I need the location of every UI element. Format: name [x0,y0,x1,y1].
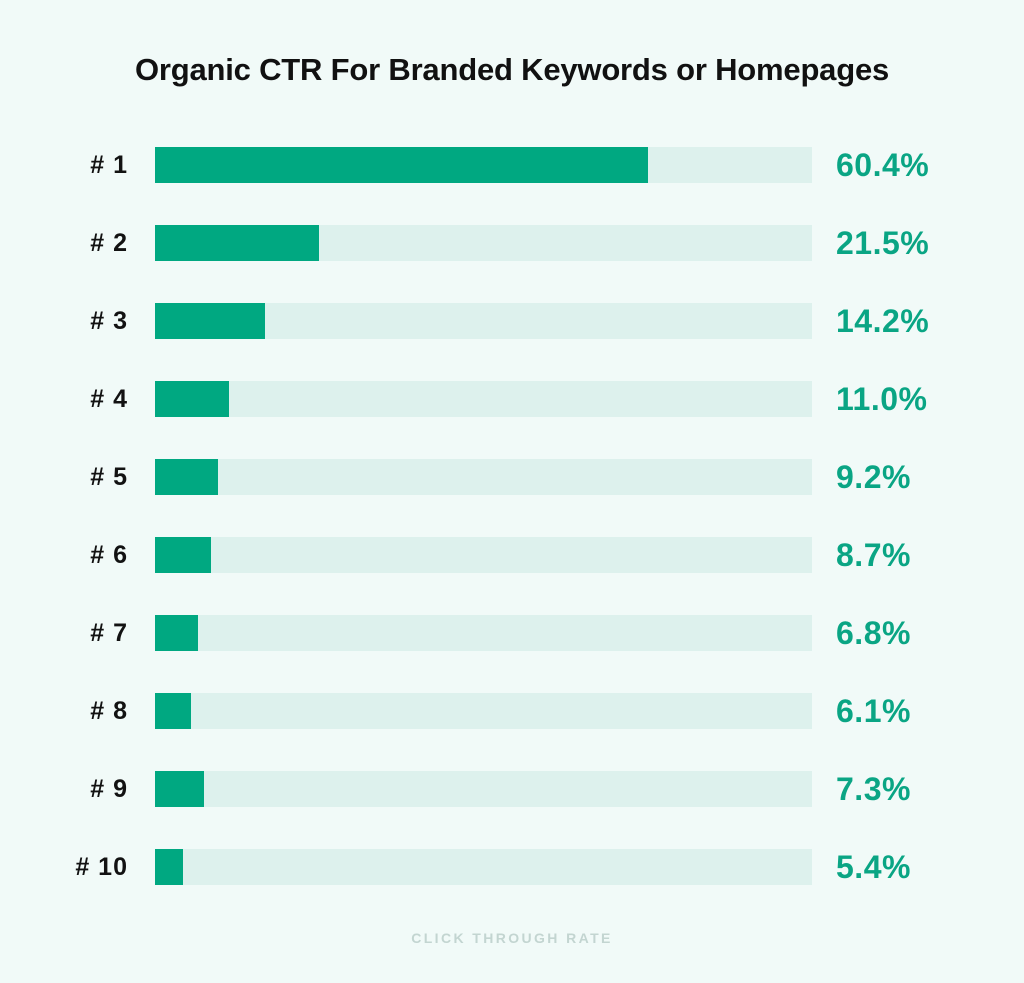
bar-row-label: # 3 [0,303,128,339]
bar-value-label: 6.1% [836,691,911,731]
bar-track [155,381,812,417]
bar-track [155,849,812,885]
bar-value-label: 5.4% [836,847,911,887]
bar-rows: # 160.4%# 221.5%# 314.2%# 411.0%# 59.2%#… [0,147,1024,927]
bar-row: # 105.4% [0,849,1024,927]
chart-title: Organic CTR For Branded Keywords or Home… [0,52,1024,88]
bar-row-label: # 6 [0,537,128,573]
bar-fill [155,615,198,651]
bar-fill [155,849,183,885]
bar-fill [155,693,191,729]
bar-row-label: # 1 [0,147,128,183]
bar-fill [155,147,648,183]
bar-value-label: 8.7% [836,535,911,575]
bar-fill [155,771,204,807]
bar-fill [155,459,218,495]
bar-track [155,459,812,495]
bar-row: # 411.0% [0,381,1024,459]
bar-row: # 97.3% [0,771,1024,849]
bar-track [155,225,812,261]
bar-value-label: 21.5% [836,223,929,263]
x-axis-caption: CLICK THROUGH RATE [0,930,1024,946]
bar-row-label: # 7 [0,615,128,651]
ctr-bar-chart: Organic CTR For Branded Keywords or Home… [0,0,1024,983]
bar-row-label: # 8 [0,693,128,729]
bar-value-label: 14.2% [836,301,929,341]
bar-row: # 68.7% [0,537,1024,615]
bar-fill [155,303,265,339]
bar-value-label: 6.8% [836,613,911,653]
bar-track [155,693,812,729]
bar-track [155,303,812,339]
bar-row: # 86.1% [0,693,1024,771]
bar-track [155,537,812,573]
bar-fill [155,225,319,261]
bar-row-label: # 10 [0,849,128,885]
bar-row: # 221.5% [0,225,1024,303]
bar-value-label: 7.3% [836,769,911,809]
bar-row: # 160.4% [0,147,1024,225]
bar-value-label: 11.0% [836,379,927,419]
bar-fill [155,537,211,573]
bar-row-label: # 5 [0,459,128,495]
bar-row: # 314.2% [0,303,1024,381]
bar-track [155,771,812,807]
bar-row-label: # 2 [0,225,128,261]
bar-row: # 59.2% [0,459,1024,537]
bar-row-label: # 9 [0,771,128,807]
bar-row-label: # 4 [0,381,128,417]
bar-fill [155,381,229,417]
bar-track [155,615,812,651]
bar-track [155,147,812,183]
bar-row: # 76.8% [0,615,1024,693]
bar-value-label: 60.4% [836,145,929,185]
bar-value-label: 9.2% [836,457,911,497]
